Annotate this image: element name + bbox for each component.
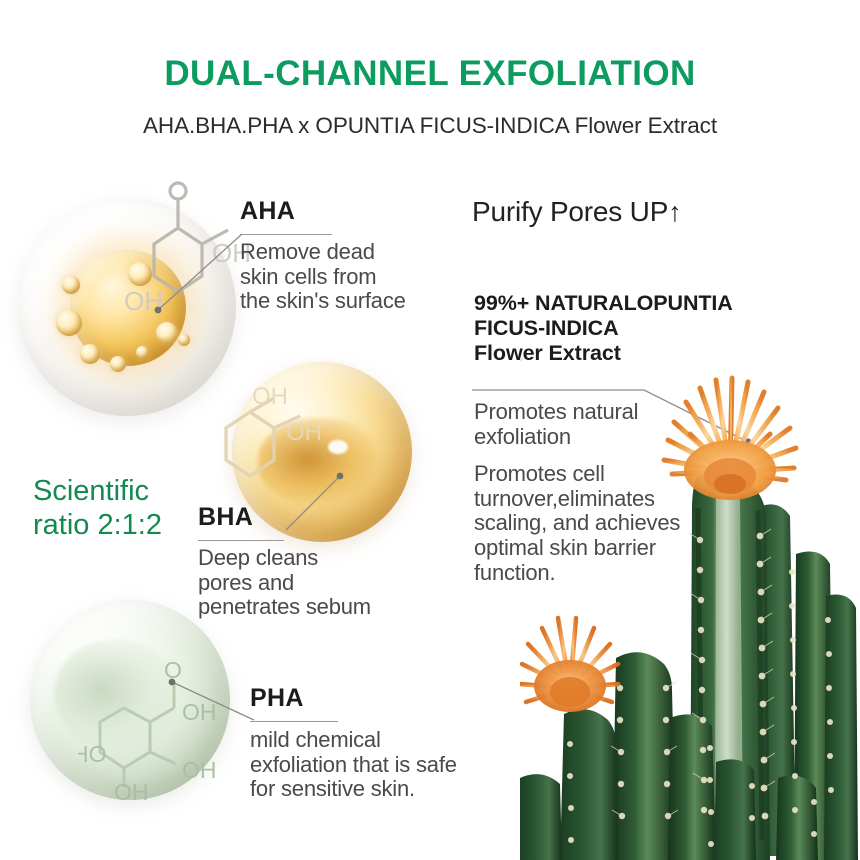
bha-highlight — [328, 440, 348, 454]
pha-title: PHA — [250, 684, 304, 713]
cactus-column-front — [612, 652, 676, 860]
cactus-flower-top — [664, 378, 796, 500]
aha-title: AHA — [240, 197, 295, 226]
scientific-ratio-text: Scientific ratio 2:1:2 — [33, 474, 223, 542]
pha-title-rule — [250, 721, 338, 722]
cactus-column-front — [714, 759, 756, 860]
bha-body-text: Deep cleans pores and penetrates sebum — [198, 546, 448, 620]
cactus-column-back — [824, 595, 858, 860]
cactus-illustration — [520, 358, 860, 860]
aha-bead — [56, 310, 82, 336]
pha-droplet-sphere — [30, 600, 230, 800]
page-subtitle: AHA.BHA.PHA x OPUNTIA FICUS-INDICA Flowe… — [0, 113, 860, 139]
bha-droplet-sphere — [232, 362, 412, 542]
natural-extract-heading: 99%+ NATURALOPUNTIA FICUS-INDICA Flower … — [474, 291, 814, 366]
aha-bead — [136, 346, 149, 359]
cactus-column-front — [560, 709, 618, 860]
aha-bead — [80, 344, 100, 364]
aha-body-text: Remove dead skin cells from the skin's s… — [240, 240, 460, 314]
cactus-column-front — [668, 714, 716, 860]
aha-title-rule — [240, 234, 332, 235]
purify-pores-heading: Purify Pores UP↑ — [472, 196, 682, 228]
aha-bead — [178, 334, 190, 346]
bha-oil-swirl — [258, 418, 376, 504]
pha-body-text: mild chemical exfoliation that is safe f… — [250, 728, 520, 802]
cactus-column-front — [520, 774, 562, 860]
aha-bead — [62, 276, 80, 294]
infographic-canvas: DUAL-CHANNEL EXFOLIATION AHA.BHA.PHA x O… — [0, 0, 860, 860]
pha-gel-swirl — [54, 640, 174, 750]
purify-pores-label: Purify Pores UP — [472, 196, 668, 227]
aha-bead — [128, 262, 152, 286]
aha-bead — [156, 322, 178, 344]
aha-bead — [110, 356, 126, 372]
cactus-flower-lower — [520, 618, 618, 712]
cactus-column-front — [776, 776, 818, 860]
page-title: DUAL-CHANNEL EXFOLIATION — [0, 54, 860, 94]
arrow-up-icon: ↑ — [668, 197, 681, 227]
aha-droplet-sphere — [18, 198, 236, 416]
cactus-photo — [520, 358, 860, 860]
